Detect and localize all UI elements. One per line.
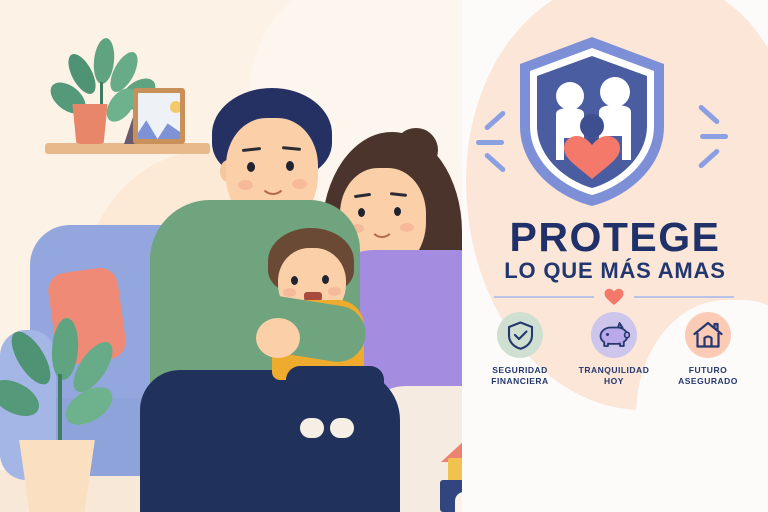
badge-label-2-line2: HOY [604,376,624,386]
mother-hair-bun [394,128,438,172]
badge-tranquilidad-hoy[interactable]: TRANQUILIDAD HOY [572,312,656,388]
shine-line-right-2 [700,134,728,139]
picture-frame [133,88,185,144]
father-lower-leg [148,420,238,512]
insurance-poster: PROTEGE LO QUE MÁS AMAS SEGURIDAD FINANC… [0,0,768,512]
divider-line-left [494,296,594,298]
shine-line-left-2 [476,140,504,145]
heart-icon [604,288,624,306]
badge-circle-1 [497,312,543,358]
badge-label-1-line1: SEGURIDAD [492,365,548,375]
badge-label-1: SEGURIDAD FINANCIERA [478,365,562,388]
badge-label-3: FUTURO ASEGURADO [666,365,750,388]
page-title: PROTEGE [462,214,768,261]
badge-circle-2 [591,312,637,358]
badge-seguridad-financiera[interactable]: SEGURIDAD FINANCIERA [478,312,562,388]
divider [494,288,734,306]
badge-label-3-line2: ASEGURADO [678,376,738,386]
divider-line-right [634,296,734,298]
badge-circle-3 [685,312,731,358]
benefit-badges: SEGURIDAD FINANCIERA TRANQUILIDAD HOY [478,312,750,398]
page-subtitle: LO QUE MÁS AMAS [462,258,768,284]
shield-check-icon [507,321,534,350]
mountain-icon [138,113,180,139]
child-shoe-left [300,418,324,438]
child-shoe-right [330,418,354,438]
badge-label-1-line2: FINANCIERA [491,376,548,386]
picture-frame-image [138,93,180,139]
piggy-bank-icon [599,322,630,349]
sun-icon [170,101,180,113]
house-icon [693,321,723,349]
badge-label-2: TRANQUILIDAD HOY [572,365,656,388]
shield-icon [512,34,672,209]
floor-plant [0,318,130,448]
badge-label-2-line1: TRANQUILIDAD [579,365,650,375]
shelf-plant-pot [70,104,110,144]
father-hand [256,318,300,358]
badge-futuro-asegurado[interactable]: FUTURO ASEGURADO [666,312,750,388]
family-shield-logo [512,34,672,204]
badge-label-3-line1: FUTURO [689,365,727,375]
